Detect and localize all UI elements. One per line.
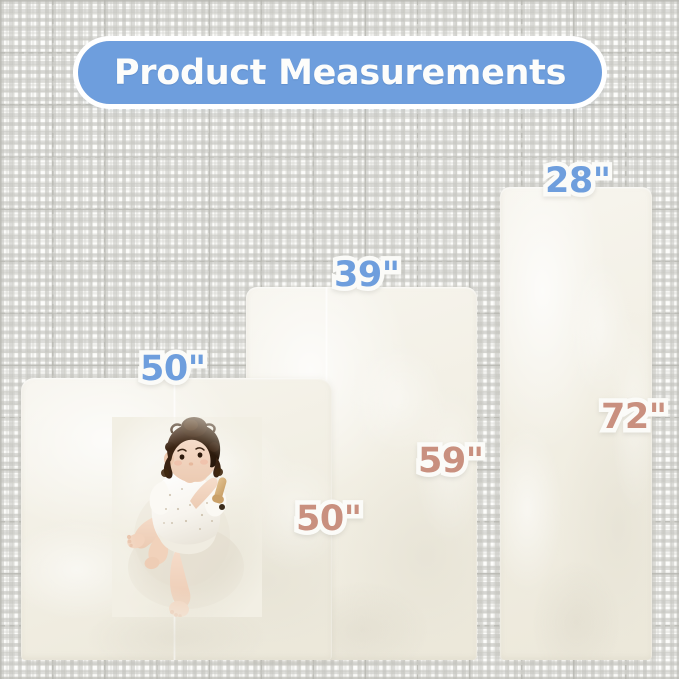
measurement-label-medium-height: 59" xyxy=(414,442,487,481)
product-measurements-infographic: Product Measurements xyxy=(0,0,679,679)
page-title: Product Measurements xyxy=(114,53,566,93)
page-title-banner: Product Measurements xyxy=(78,41,602,104)
measurement-label-large-height: 50" xyxy=(292,500,365,539)
measurement-label-tall-height: 72" xyxy=(597,398,670,437)
measurement-label-large-width: 50" xyxy=(136,350,209,389)
child-photo xyxy=(112,417,262,617)
measurement-label-medium-width: 39" xyxy=(330,256,403,295)
measurement-label-tall-width: 28" xyxy=(541,162,614,201)
